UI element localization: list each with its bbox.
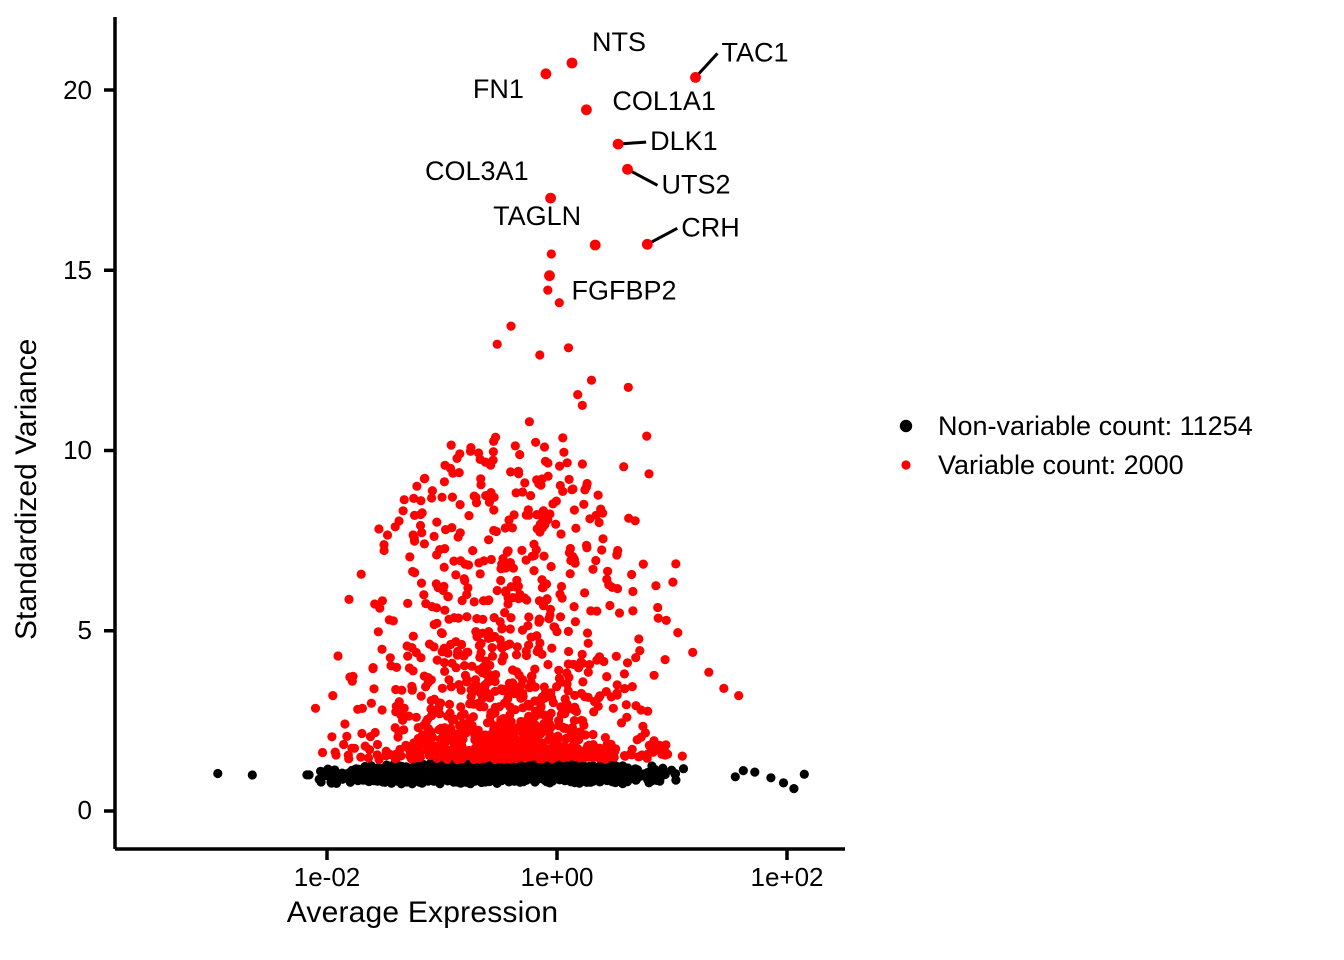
y-tick-label-15: 15	[30, 255, 92, 286]
legend-label-variable: Variable count: 2000	[938, 450, 1184, 481]
legend-marker-variable	[901, 460, 910, 469]
legend-label-non-variable: Non-variable count: 11254	[938, 411, 1253, 442]
gene-label-crh: CRH	[681, 212, 740, 242]
gene-point-nts	[567, 58, 578, 69]
gene-label-tagln: TAGLN	[493, 201, 581, 231]
gene-label-col3a1: COL3A1	[425, 156, 529, 186]
gene-point-fgfbp2	[544, 270, 555, 281]
x-tick-label-1e+02: 1e+02	[722, 862, 852, 893]
gene-point-dlk1	[613, 139, 624, 150]
legend-marker-non-variable	[900, 420, 912, 432]
gene-point-col1a1	[581, 104, 592, 115]
x-tick-label-1e-02: 1e-02	[262, 862, 392, 893]
gene-label-uts2: UTS2	[662, 169, 731, 199]
x-axis-title: Average Expression	[0, 896, 845, 930]
gene-label-nts: NTS	[592, 27, 646, 57]
gene-label-fn1: FN1	[473, 74, 524, 104]
gene-point-tagln	[590, 240, 601, 251]
y-tick-label-20: 20	[30, 75, 92, 106]
gene-label-tac1: TAC1	[722, 37, 789, 67]
x-tick-label-1e+00: 1e+00	[492, 862, 622, 893]
gene-annotations: NTSTAC1FN1COL1A1DLK1UTS2COL3A1TAGLNCRHFG…	[425, 27, 788, 306]
scatter-plot-figure: NTSTAC1FN1COL1A1DLK1UTS2COL3A1TAGLNCRHFG…	[0, 0, 1344, 960]
variable-points	[311, 249, 743, 764]
y-axis-title: Standardized Variance	[10, 339, 44, 640]
gene-label-fgfbp2: FGFBP2	[572, 276, 677, 306]
gene-label-dlk1: DLK1	[650, 126, 718, 156]
legend-markers	[900, 420, 912, 470]
y-tick-label-0: 0	[30, 795, 92, 826]
gene-label-col1a1: COL1A1	[612, 86, 716, 116]
gene-point-crh	[642, 239, 653, 250]
gene-point-tac1	[690, 72, 701, 83]
gene-point-fn1	[541, 68, 552, 79]
gene-point-uts2	[622, 164, 633, 175]
